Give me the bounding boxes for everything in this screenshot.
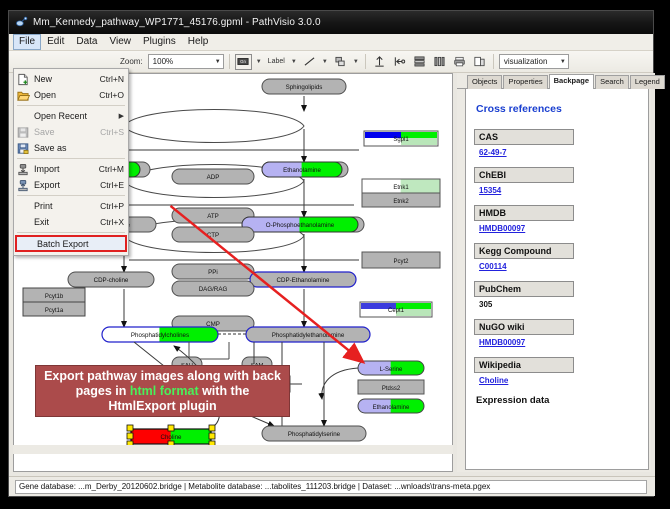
annotation-highlight: html format xyxy=(130,384,199,398)
svg-text:Ethanolamine: Ethanolamine xyxy=(283,167,321,174)
node-l-serine: L-Serine xyxy=(358,361,424,375)
menu-item-save[interactable]: Save Ctrl+S xyxy=(14,124,128,140)
svg-text:Pcyt1b: Pcyt1b xyxy=(45,294,64,300)
svg-text:Phosphatidylethanolamine: Phosphatidylethanolamine xyxy=(272,332,345,339)
backpage-heading: Cross references xyxy=(476,103,640,115)
svg-text:Cept1: Cept1 xyxy=(388,308,405,314)
menu-help[interactable]: Help xyxy=(182,34,215,50)
node-phosphatidylcholines: Phosphatidylcholines xyxy=(102,327,218,342)
menu-item-save-as[interactable]: Save as xyxy=(14,140,128,156)
line-icon[interactable] xyxy=(301,54,318,70)
datanode-dropdown-icon[interactable]: ▼ xyxy=(255,59,263,65)
svg-text:Pcyt2: Pcyt2 xyxy=(393,259,409,265)
xref-label-chebi: ChEBI xyxy=(474,167,574,183)
xref-label-hmdb: HMDB xyxy=(474,205,574,221)
xref-value-nugo[interactable]: HMDB00097 xyxy=(479,338,640,347)
node-etnk1: Etnk1 xyxy=(362,179,440,193)
svg-text:Gn: Gn xyxy=(240,59,246,64)
node-o-phosphoethanolamine: O-Phosphoethanolamine xyxy=(242,217,364,232)
label-dropdown-icon[interactable]: ▼ xyxy=(290,59,298,65)
menu-item-save-as-label: Save as xyxy=(34,143,124,153)
label-button[interactable]: Label xyxy=(266,58,287,65)
tab-objects[interactable]: Objects xyxy=(467,75,502,89)
annotation-line-3: HtmlExport plugin xyxy=(108,399,216,414)
menu-item-print-label: Print xyxy=(34,201,100,211)
menu-item-open-recent-label: Open Recent xyxy=(34,111,119,121)
side-panel-tabs[interactable]: Objects Properties Backpage Search Legen… xyxy=(457,73,651,89)
pathvisio-app-icon xyxy=(15,16,28,29)
file-dropdown-menu[interactable]: New Ctrl+N Open Ctrl+O Open Recent ▶ xyxy=(13,68,129,256)
toolbar-separator-2 xyxy=(365,54,366,69)
menu-view[interactable]: View xyxy=(103,34,137,50)
menu-edit[interactable]: Edit xyxy=(41,34,70,50)
node-pcyt1b: Pcyt1b xyxy=(23,288,85,302)
align-left-icon[interactable] xyxy=(391,54,408,70)
node-pcyt2: Pcyt2 xyxy=(362,252,440,268)
xref-label-wikipedia: Wikipedia xyxy=(474,357,574,373)
screen-root: Mm_Kennedy_pathway_WP1771_45176.gpml - P… xyxy=(0,0,670,509)
menu-separator-4 xyxy=(17,232,125,233)
backpage-content: Cross references CAS 62-49-7 ChEBI 15354… xyxy=(465,89,649,470)
svg-text:O-Phosphoethanolamine: O-Phosphoethanolamine xyxy=(266,222,335,229)
menu-separator-1 xyxy=(17,105,125,106)
no-icon-placeholder xyxy=(16,110,30,123)
svg-text:DAG/RAG: DAG/RAG xyxy=(199,286,228,293)
menu-item-export[interactable]: Export Ctrl+E xyxy=(14,177,128,193)
node-atp: ATP xyxy=(172,208,254,223)
xref-value-pubchem: 305 xyxy=(479,300,640,309)
menu-item-exit-accel: Ctrl+X xyxy=(100,217,124,227)
stack-vertical-icon[interactable] xyxy=(411,54,428,70)
svg-text:L-Serine: L-Serine xyxy=(380,367,403,373)
zoom-label: Zoom: xyxy=(120,57,143,66)
svg-text:CDP-choline: CDP-choline xyxy=(94,277,129,284)
zoom-value: 100% xyxy=(153,57,173,66)
tab-search[interactable]: Search xyxy=(595,75,629,89)
node-adp: ADP xyxy=(172,169,254,184)
menu-bar[interactable]: File Edit Data View Plugins Help xyxy=(9,34,653,51)
side-panel: Objects Properties Backpage Search Legen… xyxy=(457,73,651,472)
node-ethanolamine-low: Ethanolamine xyxy=(358,399,424,413)
toolbar-separator xyxy=(229,54,230,69)
status-text: Gene database: ...m_Derby_20120602.bridg… xyxy=(15,480,647,494)
xref-label-kegg: Kegg Compound xyxy=(474,243,574,259)
node-cdp-choline: CDP-choline xyxy=(68,272,154,287)
menu-data[interactable]: Data xyxy=(70,34,103,50)
tab-legend[interactable]: Legend xyxy=(630,75,665,89)
menu-separator-2 xyxy=(17,158,125,159)
menu-separator-3 xyxy=(17,195,125,196)
node-ppi: PPi xyxy=(172,264,254,279)
title-bar: Mm_Kennedy_pathway_WP1771_45176.gpml - P… xyxy=(9,11,653,34)
menu-item-exit-label: Exit xyxy=(34,217,100,227)
node-choline-selected: Choline xyxy=(127,425,215,447)
svg-text:CDP-Ethanolamine: CDP-Ethanolamine xyxy=(277,277,331,284)
xref-value-kegg[interactable]: C00114 xyxy=(479,262,640,271)
xref-value-wikipedia[interactable]: Choline xyxy=(479,376,640,385)
expression-data-heading: Expression data xyxy=(476,395,640,406)
distribute-icon[interactable] xyxy=(431,54,448,70)
menu-item-open-accel: Ctrl+O xyxy=(99,90,124,100)
menu-item-open-recent[interactable]: Open Recent ▶ xyxy=(14,108,128,124)
node-sgpl1: Sgpl1 xyxy=(364,131,438,146)
svg-text:Phosphatidylcholines: Phosphatidylcholines xyxy=(131,332,189,339)
menu-plugins[interactable]: Plugins xyxy=(137,34,182,50)
toolbar-separator-3 xyxy=(493,54,494,69)
xref-value-cas[interactable]: 62-49-7 xyxy=(479,148,640,157)
chevron-down-icon-2: ▼ xyxy=(560,59,566,65)
node-phosphatidylserine: Phosphatidylserine xyxy=(262,426,366,441)
svg-text:PPi: PPi xyxy=(208,269,218,276)
node-ctp: CTP xyxy=(172,227,254,242)
node-etnk2: Etnk2 xyxy=(362,193,440,207)
annotation-line-2b: with the xyxy=(199,384,250,398)
node-cdp-ethanolamine: CDP-Ethanolamine xyxy=(250,272,356,287)
visualization-combo[interactable]: visualization ▼ xyxy=(499,54,569,69)
node-ethanolamine-top: Ethanolamine xyxy=(262,162,348,177)
svg-text:Sphingolipids: Sphingolipids xyxy=(286,84,323,91)
menu-item-open-label: Open xyxy=(34,90,99,100)
new-document-icon xyxy=(16,73,30,86)
svg-text:Ethanolamine: Ethanolamine xyxy=(373,405,410,411)
node-cept1: Cept1 xyxy=(360,302,432,317)
menu-item-new-label: New xyxy=(34,74,100,84)
copy-icon[interactable] xyxy=(471,54,488,70)
visualization-value: visualization xyxy=(504,57,548,66)
svg-text:Etnk2: Etnk2 xyxy=(393,199,409,205)
svg-text:Pcyt1a: Pcyt1a xyxy=(45,308,64,314)
import-icon xyxy=(16,163,30,176)
no-icon-placeholder-4 xyxy=(19,237,33,250)
svg-text:Choline: Choline xyxy=(161,434,183,441)
menu-item-save-accel: Ctrl+S xyxy=(100,127,124,137)
export-icon xyxy=(16,179,30,192)
xref-label-nugo: NuGO wiki xyxy=(474,319,574,335)
xref-value-hmdb[interactable]: HMDB00097 xyxy=(479,224,640,233)
svg-text:ATP: ATP xyxy=(207,213,219,220)
menu-item-new[interactable]: New Ctrl+N xyxy=(14,71,128,87)
no-icon-placeholder-2 xyxy=(16,200,30,213)
no-icon-placeholder-3 xyxy=(16,216,30,229)
svg-text:CTP: CTP xyxy=(207,232,219,239)
menu-file[interactable]: File xyxy=(13,34,41,50)
status-bar: Gene database: ...m_Derby_20120602.bridg… xyxy=(9,476,655,496)
node-pcyt1a: Pcyt1a xyxy=(23,302,85,316)
menu-item-save-label: Save xyxy=(34,127,100,137)
shape-icon[interactable] xyxy=(332,54,349,70)
node-ptdss2: Ptdss2 xyxy=(358,380,424,394)
menu-item-open[interactable]: Open Ctrl+O xyxy=(14,87,128,103)
annotation-banner: Export pathway images along with back pa… xyxy=(35,365,290,417)
annotation-line-2a: pages in xyxy=(76,384,130,398)
open-folder-icon xyxy=(16,89,30,102)
application-window: Mm_Kennedy_pathway_WP1771_45176.gpml - P… xyxy=(8,10,654,497)
shape-dropdown-icon[interactable]: ▼ xyxy=(352,59,360,65)
menu-item-print-accel: Ctrl+P xyxy=(100,201,124,211)
print-icon[interactable] xyxy=(451,54,468,70)
xref-value-chebi[interactable]: 15354 xyxy=(479,186,640,195)
node-phosphatidylethanolamine: Phosphatidylethanolamine xyxy=(246,327,370,342)
svg-text:Phosphatidylserine: Phosphatidylserine xyxy=(288,431,341,438)
annotation-line-1: Export pathway images along with back xyxy=(44,369,281,384)
svg-text:Etnk1: Etnk1 xyxy=(393,185,409,191)
svg-text:Ptdss2: Ptdss2 xyxy=(382,386,401,392)
submenu-arrow-icon: ▶ xyxy=(119,112,124,120)
menu-item-print[interactable]: Print Ctrl+P xyxy=(14,198,128,214)
svg-text:ADP: ADP xyxy=(207,174,220,181)
annotation-line-2: pages in html format with the xyxy=(76,384,250,399)
xref-label-pubchem: PubChem xyxy=(474,281,574,297)
save-as-icon xyxy=(16,142,30,155)
menu-item-import-accel: Ctrl+M xyxy=(99,164,124,174)
window-title: Mm_Kennedy_pathway_WP1771_45176.gpml - P… xyxy=(33,17,321,28)
menu-item-export-accel: Ctrl+E xyxy=(100,180,124,190)
node-sphingolipids: Sphingolipids xyxy=(262,79,346,94)
tab-properties[interactable]: Properties xyxy=(503,75,547,89)
save-disk-icon xyxy=(16,126,30,139)
menu-item-new-accel: Ctrl+N xyxy=(100,74,124,84)
line-dropdown-icon[interactable]: ▼ xyxy=(321,59,329,65)
canvas-horizontal-scrollbar[interactable] xyxy=(13,445,453,454)
zoom-combo[interactable]: 100% ▼ xyxy=(148,54,224,69)
menu-item-batch-export[interactable]: Batch Export xyxy=(15,235,127,252)
menu-item-exit[interactable]: Exit Ctrl+X xyxy=(14,214,128,230)
xref-label-cas: CAS xyxy=(474,129,574,145)
datanode-icon[interactable]: Gn xyxy=(235,54,252,70)
chevron-down-icon: ▼ xyxy=(215,59,221,65)
menu-item-export-label: Export xyxy=(34,180,100,190)
menu-item-import-label: Import xyxy=(34,164,99,174)
node-dag-rag: DAG/RAG xyxy=(172,281,254,296)
svg-text:Sgpl1: Sgpl1 xyxy=(393,137,409,143)
menu-item-import[interactable]: Import Ctrl+M xyxy=(14,161,128,177)
menu-item-batch-export-label: Batch Export xyxy=(37,239,121,249)
tab-backpage[interactable]: Backpage xyxy=(549,74,594,89)
align-top-icon[interactable] xyxy=(371,54,388,70)
